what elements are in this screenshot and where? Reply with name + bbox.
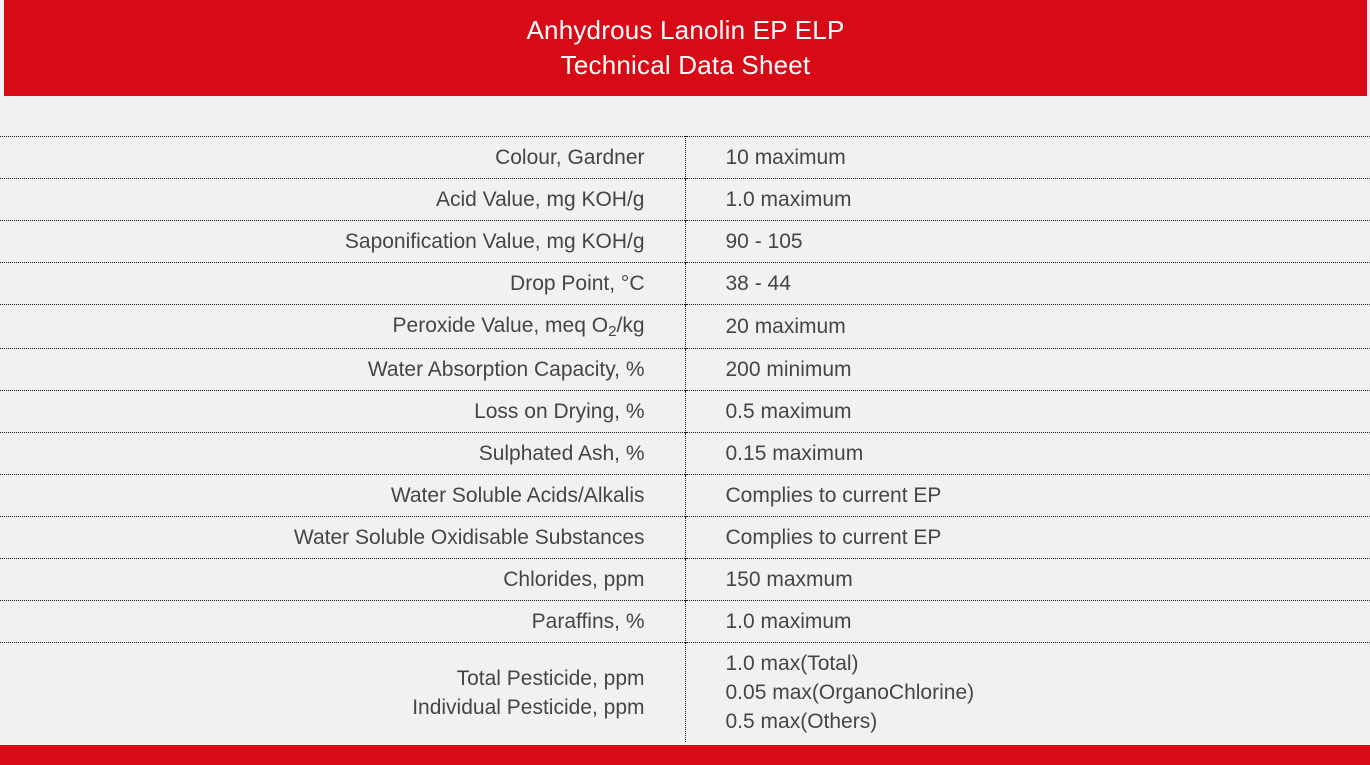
spec-value: 20 maximum — [685, 305, 1370, 349]
spec-value: 90 - 105 — [685, 221, 1370, 263]
spec-value: 1.0 maximum — [685, 179, 1370, 221]
spec-value: Complies to current EP — [685, 517, 1370, 559]
table-row: Sulphated Ash, % 0.15 maximum — [0, 433, 1370, 475]
spec-label: Water Soluble Acids/Alkalis — [0, 475, 685, 517]
spec-value: 0.15 maximum — [685, 433, 1370, 475]
table-row: Acid Value, mg KOH/g 1.0 maximum — [0, 179, 1370, 221]
spec-label: Loss on Drying, % — [0, 391, 685, 433]
spec-label: Water Soluble Oxidisable Substances — [0, 517, 685, 559]
spec-value: 1.0 max(Total) 0.05 max(OrganoChlorine) … — [685, 643, 1370, 743]
spec-label-subscript: 2 — [608, 323, 616, 340]
table-row: Chlorides, ppm 150 maxmum — [0, 559, 1370, 601]
spec-label: Paraffins, % — [0, 601, 685, 643]
spec-label: Saponification Value, mg KOH/g — [0, 221, 685, 263]
spec-value: 38 - 44 — [685, 263, 1370, 305]
spec-value: 0.5 maximum — [685, 391, 1370, 433]
table-row: Drop Point, °C 38 - 44 — [0, 263, 1370, 305]
spec-label-text-prefix: Peroxide Value, meq O — [393, 314, 609, 337]
table-row: Total Pesticide, ppm Individual Pesticid… — [0, 643, 1370, 743]
table-row: Peroxide Value, meq O2/kg 20 maximum — [0, 305, 1370, 349]
spec-label-peroxide: Peroxide Value, meq O2/kg — [0, 305, 685, 349]
table-row: Colour, Gardner 10 maximum — [0, 137, 1370, 179]
spec-value: 200 minimum — [685, 349, 1370, 391]
table-row: Water Soluble Acids/Alkalis Complies to … — [0, 475, 1370, 517]
spec-value: 150 maxmum — [685, 559, 1370, 601]
spec-value: 10 maximum — [685, 137, 1370, 179]
product-title: Anhydrous Lanolin EP ELP — [527, 13, 845, 48]
spec-label: Chlorides, ppm — [0, 559, 685, 601]
spec-label-text-suffix: /kg — [616, 314, 644, 337]
spec-value: Complies to current EP — [685, 475, 1370, 517]
spec-label: Colour, Gardner — [0, 137, 685, 179]
specification-table: Colour, Gardner 10 maximum Acid Value, m… — [0, 136, 1370, 742]
table-row: Water Soluble Oxidisable Substances Comp… — [0, 517, 1370, 559]
spec-label: Sulphated Ash, % — [0, 433, 685, 475]
table-row: Paraffins, % 1.0 maximum — [0, 601, 1370, 643]
spec-value: 1.0 maximum — [685, 601, 1370, 643]
document-type-subtitle: Technical Data Sheet — [561, 48, 811, 83]
document-footer-bar — [0, 745, 1370, 765]
technical-data-sheet-page: Anhydrous Lanolin EP ELP Technical Data … — [0, 0, 1370, 765]
table-row: Loss on Drying, % 0.5 maximum — [0, 391, 1370, 433]
table-row: Saponification Value, mg KOH/g 90 - 105 — [0, 221, 1370, 263]
spec-label: Acid Value, mg KOH/g — [0, 179, 685, 221]
specification-table-area: Colour, Gardner 10 maximum Acid Value, m… — [0, 96, 1370, 745]
spec-label: Total Pesticide, ppm Individual Pesticid… — [0, 643, 685, 743]
specification-table-body: Colour, Gardner 10 maximum Acid Value, m… — [0, 137, 1370, 743]
table-row: Water Absorption Capacity, % 200 minimum — [0, 349, 1370, 391]
spec-label: Drop Point, °C — [0, 263, 685, 305]
spec-label: Water Absorption Capacity, % — [0, 349, 685, 391]
document-header-banner: Anhydrous Lanolin EP ELP Technical Data … — [4, 0, 1367, 96]
